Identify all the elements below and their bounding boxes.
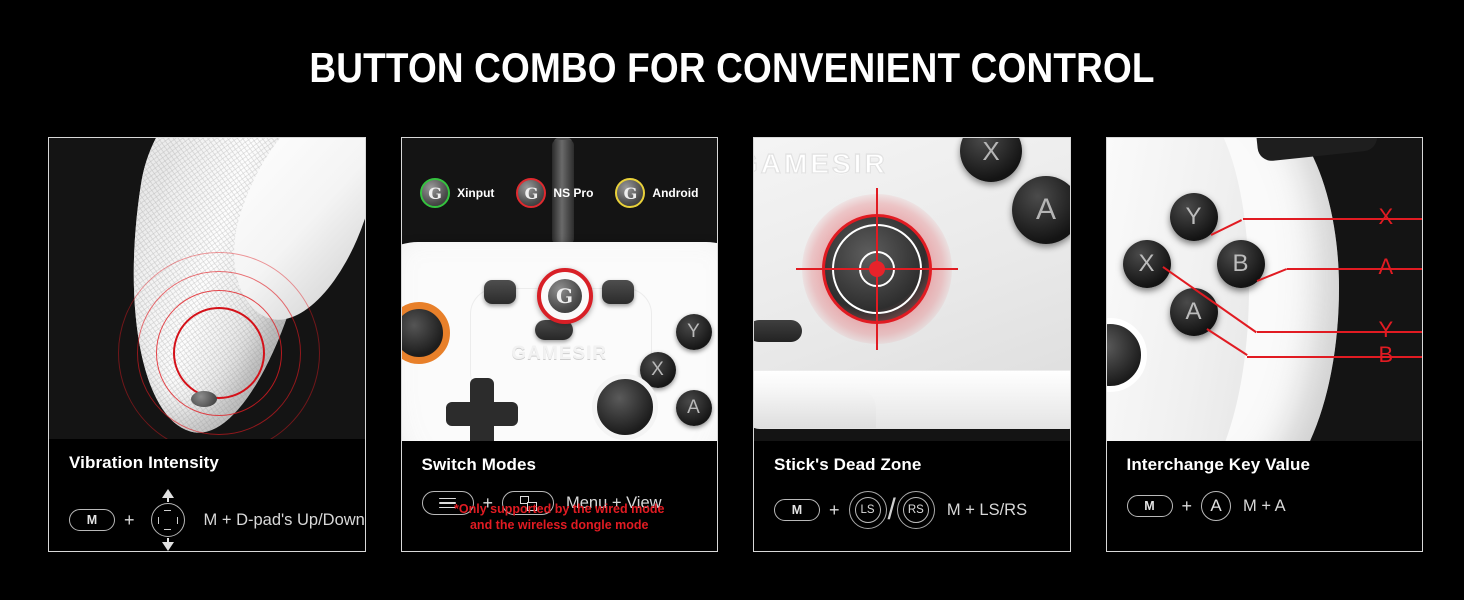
panel-4-artwork: Y X B A X A Y B [1107,138,1423,441]
panel-1-combo-result: M + D-pad's Up/Down [204,511,365,530]
face-button-a: A [1170,288,1218,336]
panel-1-artwork [49,138,365,439]
side-button-hardware [754,320,802,342]
separator-slash: / [888,493,896,527]
mode-badge-label: Xinput [457,186,494,200]
grip-indicator-dot [191,391,217,407]
panel-2-caption: Switch Modes + Menu + View *Only support… [402,441,718,551]
face-button-a: A [676,390,712,426]
gamesir-home-button: G [537,268,593,324]
left-stick-icon: LS [849,491,887,529]
key-m-pill: M [774,499,820,521]
controller-shell-highlight [1107,138,1249,441]
panel-4-combo-result: M + A [1243,497,1286,516]
gamesir-logo-icon: G [420,178,450,208]
view-button-hardware [484,280,516,304]
dpad-up-down-icon [144,489,192,551]
key-a-circle: A [1201,491,1231,521]
panel-interchange-key-value: Y X B A X A Y B Interchange Key Valu [1106,137,1424,552]
panel-sticks-dead-zone: GAMESIR X A Stick's Dead Zone M + [753,137,1071,552]
panel-4-combo: M + A M + A [1127,491,1423,521]
menu-button-hardware [602,280,634,304]
controller-grip-bump [754,388,876,428]
mode-badge-nspro: G NS Pro [516,178,593,208]
panel-1-combo: M + M + D-pad's Up/Down [69,489,365,551]
callout-label-a: A [1379,254,1394,280]
mode-badge-label: NS Pro [553,186,593,200]
face-button-y: Y [676,314,712,350]
panel-row: Vibration Intensity M + M + D-pad's Up/D… [48,137,1423,552]
callout-label-y: Y [1379,317,1394,343]
plus-sign: + [1182,496,1193,517]
callout-leader-x [1243,218,1423,220]
panel-3-title: Stick's Dead Zone [774,455,1070,475]
panel-vibration-intensity: Vibration Intensity M + M + D-pad's Up/D… [48,137,366,552]
callout-leader-b [1247,356,1423,358]
embossed-brand-text: GAMESIR [754,148,888,180]
gamesir-logo-icon: G [615,178,645,208]
footnote-line-2: and the wireless dongle mode [402,517,718,533]
dpad-hardware [446,378,518,441]
shoulder-button-hardware [1255,138,1378,162]
right-stick-label: RS [903,497,929,523]
mode-badge-android: G Android [615,178,698,208]
key-m-pill: M [69,509,115,531]
mode-badge-label: Android [652,186,698,200]
mode-badge-row: G Xinput G NS Pro G Android [402,178,718,208]
panel-3-combo-result: M + LS/RS [947,501,1027,520]
panel-switch-modes: G Xinput G NS Pro G Android [401,137,719,552]
gamesir-logo-icon: G [516,178,546,208]
crosshair-center-dot [869,261,885,277]
panel-1-title: Vibration Intensity [69,453,365,473]
panel-3-artwork: GAMESIR X A [754,138,1070,441]
callout-label-b: B [1379,342,1394,368]
callout-leader-a [1287,268,1423,270]
infographic-page: BUTTON COMBO FOR CONVENIENT CONTROL Vibr… [0,0,1464,600]
key-m-pill: M [1127,495,1173,517]
callout-leader-y [1257,331,1423,333]
panel-1-caption: Vibration Intensity M + M + D-pad's Up/D… [49,439,365,551]
vibration-rings-icon [119,253,319,439]
right-analog-stick [592,374,658,440]
panel-3-combo: M + LS / RS M + LS/RS [774,491,1070,529]
panel-2-artwork: G Xinput G NS Pro G Android [402,138,718,441]
mode-badge-xinput: G Xinput [420,178,494,208]
page-title: BUTTON COMBO FOR CONVENIENT CONTROL [88,44,1376,92]
panel-2-title: Switch Modes [422,455,718,475]
panel-4-caption: Interchange Key Value M + A M + A [1107,441,1423,551]
right-stick-icon: RS [897,491,935,529]
left-stick-label: LS [855,497,881,523]
plus-sign: + [124,510,135,531]
panel-4-title: Interchange Key Value [1127,455,1423,475]
face-button-x: X [1123,240,1171,288]
footnote-line-1: *Only supported by the wired mode [402,501,718,517]
panel-3-caption: Stick's Dead Zone M + LS / RS M + LS/RS [754,441,1070,551]
plus-sign: + [829,500,840,521]
callout-label-x: X [1379,204,1394,230]
panel-2-footnote: *Only supported by the wired mode and th… [402,501,718,533]
